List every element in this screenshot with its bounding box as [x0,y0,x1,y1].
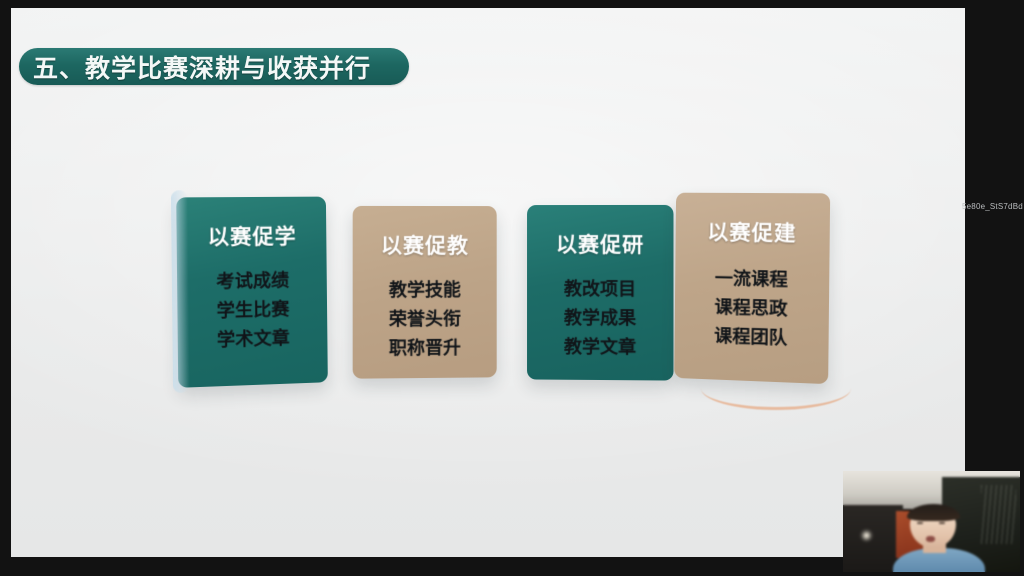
list-item: 职称晋升 [353,334,497,364]
pillar-card-items: 考试成绩 学生比赛 学术文章 [177,266,328,357]
list-item: 学生比赛 [177,294,327,327]
pillar-card-yisaicujiao: 以赛促教 教学技能 荣誉头衔 职称晋升 [353,206,497,379]
list-item: 教改项目 [527,275,673,305]
screen-share-viewport: 五、教学比赛深耕与收获并行 以赛促学 考试成绩 学生比赛 学术文章 以赛促教 教… [0,0,1024,576]
list-item: 荣誉头衔 [353,305,497,335]
list-item: 学术文章 [178,323,328,357]
list-item: 教学成果 [527,304,673,334]
list-item: 考试成绩 [177,266,327,298]
webcam-thumbnail[interactable] [843,471,1020,572]
pillar-card-yisaicuyan: 以赛促研 教改项目 教学成果 教学文章 [527,205,673,381]
pillar-card-items: 教改项目 教学成果 教学文章 [527,275,673,363]
pillar-card-title: 以赛促学 [176,220,326,252]
pillar-card-title: 以赛促建 [676,216,830,248]
letterbox-bar-left [0,0,11,576]
list-item: 教学文章 [527,333,673,363]
list-item: 一流课程 [675,264,829,296]
list-item: 课程思政 [675,292,829,325]
pillar-card-title: 以赛促教 [353,230,497,260]
letterbox-bar-top [0,0,1024,8]
presentation-slide: 五、教学比赛深耕与收获并行 以赛促学 考试成绩 学生比赛 学术文章 以赛促教 教… [11,8,965,557]
list-item: 教学技能 [353,276,497,306]
pillar-card-yisaicujian: 以赛促建 一流课程 课程思政 课程团队 [674,193,830,384]
pillar-card-yisaicuxue: 以赛促学 考试成绩 学生比赛 学术文章 [176,197,328,388]
pillar-card-title: 以赛促研 [527,229,673,259]
webcam-video-frame [843,471,1020,572]
pillar-card-row: 以赛促学 考试成绩 学生比赛 学术文章 以赛促教 教学技能 荣誉头衔 职称晋升 … [11,45,965,405]
list-item: 课程团队 [674,321,828,355]
watermark-text: 5e80e_StS7dBd [962,202,1024,211]
webcam-softness-overlay [843,471,1020,572]
orange-accent-arc [701,367,851,410]
pillar-card-items: 教学技能 荣誉头衔 职称晋升 [353,276,497,364]
pillar-card-items: 一流课程 课程思政 课程团队 [674,264,829,356]
